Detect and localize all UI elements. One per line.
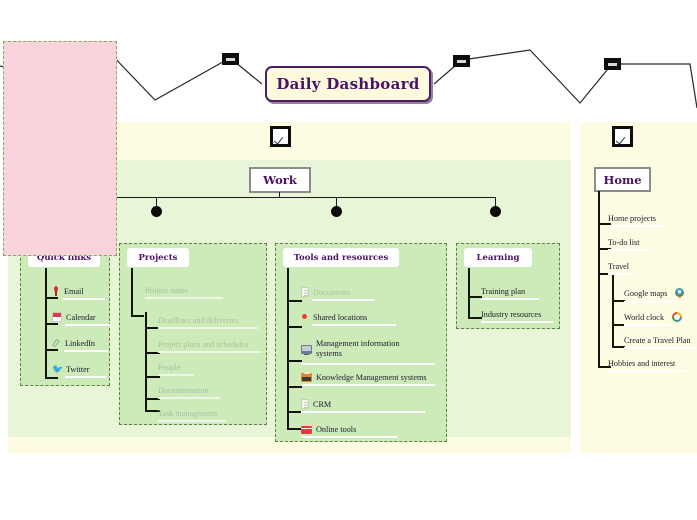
list-item-label: Task management bbox=[158, 409, 217, 418]
list-item-label: Home projects bbox=[608, 214, 656, 223]
collapse-minus-button-4[interactable] bbox=[604, 58, 621, 70]
list-item[interactable]: Knowledge Management systems bbox=[301, 373, 427, 382]
minus-icon bbox=[226, 58, 235, 61]
list-item-label: Twitter bbox=[66, 365, 90, 374]
underline bbox=[608, 370, 686, 372]
underline bbox=[158, 397, 220, 399]
quick-links-elbow bbox=[45, 268, 59, 378]
list-item[interactable]: Training plan bbox=[481, 287, 525, 296]
underline bbox=[624, 324, 670, 326]
home-node[interactable]: Home bbox=[594, 167, 651, 192]
list-item[interactable]: Task management bbox=[158, 409, 217, 418]
list-item-label: Industry resources bbox=[481, 310, 541, 319]
underline bbox=[65, 376, 107, 378]
list-item-label: Calendar bbox=[66, 313, 96, 322]
minus-icon bbox=[608, 63, 617, 66]
work-node[interactable]: Work bbox=[249, 167, 311, 193]
paperclip-icon bbox=[52, 338, 61, 348]
underline bbox=[624, 347, 696, 349]
list-item[interactable]: Google maps bbox=[624, 288, 684, 299]
list-item-label: CRM bbox=[313, 400, 331, 409]
bird-icon: 🐦 bbox=[52, 365, 62, 374]
list-item[interactable]: Home projects bbox=[608, 214, 656, 223]
list-item[interactable]: People bbox=[158, 363, 180, 372]
list-item[interactable]: Online tools bbox=[301, 425, 356, 434]
list-item[interactable]: Calendar bbox=[52, 312, 96, 322]
list-item-label: Management information systems bbox=[316, 339, 419, 359]
underline bbox=[158, 420, 226, 422]
list-item-label: World clock bbox=[624, 313, 664, 322]
card-title-label: Tools and resources bbox=[294, 253, 389, 263]
list-item[interactable]: Email bbox=[52, 286, 84, 296]
underline bbox=[301, 411, 425, 413]
list-item[interactable]: CRM bbox=[301, 399, 331, 409]
list-item-label: Online tools bbox=[316, 425, 356, 434]
list-item[interactable]: Documentation bbox=[158, 386, 208, 395]
home-collapse-checkbox[interactable] bbox=[612, 126, 633, 147]
home-node-label: Home bbox=[603, 173, 641, 187]
underline bbox=[608, 249, 652, 251]
list-item-label: Documents bbox=[313, 288, 350, 297]
list-item-label: Shared locations bbox=[313, 313, 367, 322]
list-item-label: Project name bbox=[145, 286, 188, 295]
list-item[interactable]: Project plans and schedules bbox=[158, 340, 248, 349]
collapse-minus-button-3[interactable] bbox=[453, 55, 470, 67]
list-item[interactable]: Industry resources bbox=[481, 310, 541, 319]
work-node-label: Work bbox=[263, 173, 297, 187]
underline bbox=[312, 299, 374, 301]
mindmap-canvas: Daily Dashboard Work Quick links Email C… bbox=[0, 0, 697, 520]
list-item-label: To-do list bbox=[608, 238, 640, 247]
list-item-label: Knowledge Management systems bbox=[316, 373, 427, 382]
list-item[interactable]: Hobbies and interest bbox=[608, 359, 675, 368]
document-icon bbox=[301, 287, 309, 297]
list-item[interactable]: Deadlines and deliveries bbox=[158, 316, 238, 325]
list-item-label: Deadlines and deliveries bbox=[158, 316, 238, 325]
underline bbox=[301, 363, 435, 365]
list-item-label: Travel bbox=[608, 262, 629, 271]
list-item[interactable]: Shared locations bbox=[301, 313, 367, 322]
document-icon bbox=[301, 399, 309, 409]
underline bbox=[301, 436, 397, 438]
red-dot-icon bbox=[301, 313, 309, 322]
list-item[interactable]: Create a Travel Plan bbox=[624, 336, 691, 345]
work-collapse-checkbox[interactable] bbox=[270, 126, 291, 147]
root-node-daily-dashboard[interactable]: Daily Dashboard bbox=[265, 66, 431, 102]
underline bbox=[312, 324, 396, 326]
list-item-label: People bbox=[158, 363, 180, 372]
check-icon bbox=[615, 129, 630, 144]
calendar-icon bbox=[52, 312, 62, 322]
underline bbox=[481, 321, 553, 323]
list-item-label: Documentation bbox=[158, 386, 208, 395]
work-branch-dot-3[interactable] bbox=[331, 206, 342, 217]
list-item[interactable]: Travel bbox=[608, 262, 629, 271]
list-item-label: LinkedIn bbox=[65, 339, 95, 348]
card-title-label: Projects bbox=[139, 253, 178, 263]
list-item[interactable]: 🐦 Twitter bbox=[52, 365, 90, 374]
card-title-label: Learning bbox=[477, 253, 520, 263]
underline bbox=[64, 350, 108, 352]
work-branch-dot-4[interactable] bbox=[490, 206, 501, 217]
world-clock-icon bbox=[672, 312, 682, 322]
pin-icon bbox=[52, 286, 60, 296]
root-node-label: Daily Dashboard bbox=[276, 75, 419, 93]
underline bbox=[63, 298, 105, 300]
collapse-minus-button-2[interactable] bbox=[222, 53, 239, 65]
list-item-label: Hobbies and interest bbox=[608, 359, 675, 368]
list-item-label: Project plans and schedules bbox=[158, 340, 248, 349]
work-branch-dot-2[interactable] bbox=[151, 206, 162, 217]
red-folder-icon bbox=[301, 426, 312, 434]
briefcase-icon bbox=[301, 373, 312, 382]
underline bbox=[65, 324, 111, 326]
underline bbox=[158, 327, 258, 329]
underline bbox=[481, 298, 539, 300]
underline bbox=[624, 301, 670, 303]
underline bbox=[158, 351, 262, 353]
underline bbox=[301, 384, 435, 386]
check-icon bbox=[273, 129, 288, 144]
card-title-learning[interactable]: Learning bbox=[464, 248, 532, 267]
underline bbox=[158, 374, 194, 376]
list-item[interactable]: LinkedIn bbox=[52, 338, 95, 348]
list-item[interactable]: World clock bbox=[624, 312, 682, 322]
list-item[interactable]: Project name bbox=[145, 286, 188, 295]
google-maps-icon bbox=[675, 288, 684, 299]
list-item-label: Create a Travel Plan bbox=[624, 336, 691, 345]
underline bbox=[145, 297, 223, 299]
monitor-icon bbox=[301, 345, 312, 354]
work-branch-bus bbox=[64, 197, 496, 198]
card-title-tools-and-resources[interactable]: Tools and resources bbox=[283, 248, 399, 267]
home-panel bbox=[3, 41, 117, 256]
minus-icon bbox=[457, 60, 466, 63]
card-title-projects[interactable]: Projects bbox=[127, 248, 189, 267]
underline bbox=[608, 225, 664, 227]
list-item-label: Training plan bbox=[481, 287, 525, 296]
list-item[interactable]: Management information systems bbox=[301, 339, 419, 359]
projects-elbow-l1 bbox=[131, 268, 145, 316]
list-item-label: Google maps bbox=[624, 289, 667, 298]
list-item[interactable]: To-do list bbox=[608, 238, 640, 247]
list-item[interactable]: Documents bbox=[301, 287, 350, 297]
list-item-label: Email bbox=[64, 287, 84, 296]
